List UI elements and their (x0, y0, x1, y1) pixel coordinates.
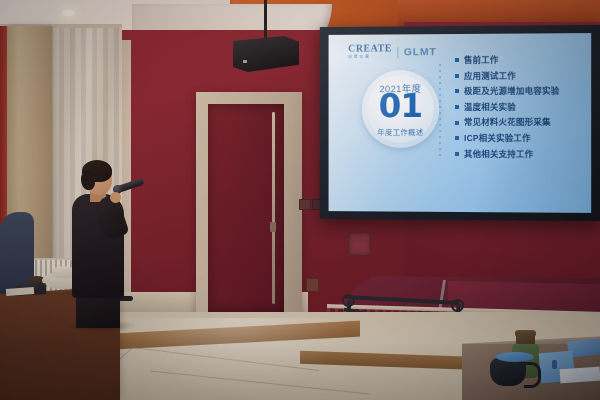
teapot-handle (524, 362, 541, 388)
list-item: 常见材料火花图形采集 (455, 118, 583, 126)
conference-room-photo: CREATE 创 想 仪 器 GLMT 2021年度 01 年度工作概述 售前工… (0, 0, 600, 400)
list-item: 温度相关实验 (455, 103, 583, 112)
list-item: 极距及光源增加电容实验 (455, 87, 583, 96)
bullet-square-icon (455, 74, 459, 78)
folder-clip-icon (552, 360, 557, 369)
ceiling-downlight (62, 10, 75, 16)
brand-name: CREATE (348, 44, 392, 54)
list-item: 其他相关支持工作 (455, 150, 583, 159)
floor-reflection (120, 318, 350, 398)
teapot-lid (496, 352, 534, 362)
door-handle-icon[interactable] (272, 112, 275, 304)
wall-socket-low[interactable] (306, 278, 319, 292)
slide-bullet-list: 售前工作 应用测试工作 极距及光源增加电容实验 温度相关实验 常见材料火花图形采… (455, 55, 583, 165)
projector-led-icon (243, 60, 247, 63)
bullet-square-icon (455, 152, 459, 156)
wall-socket[interactable] (299, 199, 311, 210)
badge-caption: 年度工作概述 (362, 127, 439, 138)
list-item: 应用测试工作 (455, 71, 583, 80)
badge-number: 01 (362, 89, 439, 122)
presenter-hair-side (81, 170, 95, 190)
bullet-label: 温度相关实验 (464, 103, 516, 111)
logo-divider (397, 47, 398, 58)
bullet-square-icon (455, 105, 459, 109)
bullet-label: 常见材料火花图形采集 (464, 118, 551, 126)
bullet-label: 应用测试工作 (464, 71, 516, 80)
dotted-divider (439, 64, 441, 156)
paper-stack (560, 367, 600, 384)
list-item: 售前工作 (455, 55, 583, 64)
rail-end-cap-icon (342, 294, 355, 307)
slide-canvas: CREATE 创 想 仪 器 GLMT 2021年度 01 年度工作概述 售前工… (329, 33, 592, 213)
door-lock-icon (270, 222, 276, 232)
bullet-label: 售前工作 (464, 56, 499, 65)
rail-end-cap-icon (451, 299, 464, 312)
teapot (490, 358, 526, 386)
bullet-label: 其他相关支持工作 (464, 150, 533, 159)
section-number-badge: 2021年度 01 年度工作概述 (362, 70, 439, 148)
bullet-square-icon (455, 58, 459, 62)
presentation-display[interactable]: CREATE 创 想 仪 器 GLMT 2021年度 01 年度工作概述 售前工… (320, 25, 600, 221)
slide-logo: CREATE 创 想 仪 器 GLMT (348, 44, 436, 59)
bullet-square-icon (455, 136, 459, 140)
brand-subtitle: 创 想 仪 器 (348, 55, 392, 59)
bullet-square-icon (455, 121, 459, 125)
bullet-label: 极距及光源增加电容实验 (464, 87, 560, 96)
bullet-square-icon (455, 89, 459, 93)
bullet-label: ICP相关实验工作 (464, 134, 531, 143)
wall-access-panel (348, 232, 371, 256)
secondary-brand-name: GLMT (404, 47, 437, 59)
list-item: ICP相关实验工作 (455, 134, 583, 143)
presenter-hand (110, 192, 121, 203)
